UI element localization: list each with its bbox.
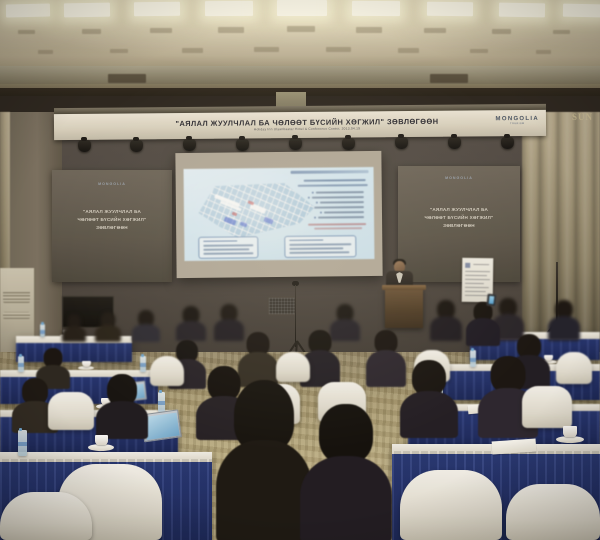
- ceiling-air-return: [430, 74, 468, 83]
- ceiling-vent: [492, 29, 511, 34]
- poster-text-line: [465, 291, 486, 292]
- stage-spotlight: [183, 139, 196, 151]
- ceiling-vent: [82, 29, 101, 34]
- attendee: [96, 374, 148, 436]
- callout-line: [203, 248, 249, 250]
- slide-callout-right: [284, 235, 356, 258]
- slide-bullet: [318, 216, 364, 218]
- coffee-cup: [95, 435, 108, 445]
- banner-logo: MONGOLIA TOURISM: [496, 116, 539, 125]
- attendee-torso: [132, 324, 160, 342]
- attendee-torso: [466, 318, 500, 346]
- poster-text-line: [465, 279, 490, 280]
- ceiling-light-panel: [134, 2, 180, 17]
- ceiling-vent: [110, 49, 128, 53]
- stage-spotlight: [448, 137, 461, 149]
- side-banner-left-line2: ЧӨЛӨӨТ БҮСИЙН ХӨГЖИЛ": [52, 216, 172, 224]
- ceiling-air-return: [108, 74, 146, 83]
- attendee-foreground: [216, 380, 312, 540]
- slide-title-bar: [291, 170, 369, 174]
- site-plan-diagram: [196, 182, 317, 241]
- slide-callout-left: [198, 236, 258, 259]
- stage-spotlight: [289, 138, 302, 150]
- table-skirt: [16, 343, 132, 362]
- side-banner-left: MONGOLIA "АЯЛАЛ ЖУУЛЧЛАЛ БА ЧӨЛӨӨТ БҮСИЙ…: [52, 170, 172, 282]
- poster-text-line: [473, 264, 489, 265]
- poster-text-line: [465, 275, 487, 276]
- side-banner-left-text: "АЯЛАЛ ЖУУЛЧЛАЛ БА ЧӨЛӨӨТ БҮСИЙН ХӨГЖИЛ"…: [52, 208, 172, 232]
- site-plan-grid: [196, 182, 317, 241]
- side-banner-left-line1: "АЯЛАЛ ЖУУЛЧЛАЛ БА: [52, 208, 172, 216]
- stage-spotlight: [342, 138, 355, 150]
- attendee: [548, 300, 580, 340]
- ac-grille: [3, 290, 30, 303]
- chair: [506, 484, 600, 540]
- side-banner-left-logo: MONGOLIA: [52, 182, 172, 186]
- chair: [522, 386, 572, 428]
- saucer: [556, 436, 584, 443]
- ceiling-vent: [536, 50, 551, 54]
- ceiling-vent: [18, 30, 35, 34]
- side-banner-right-line3: ЗӨВЛӨГӨӨН: [398, 222, 520, 230]
- water-bottle: [40, 324, 45, 337]
- attendee-with-phone: [466, 300, 500, 346]
- slide-bullet: [312, 196, 364, 198]
- banner-logo-subtext: TOURISM: [496, 122, 539, 125]
- poster-text-line: [465, 283, 484, 284]
- callout-line: [289, 247, 343, 249]
- side-banner-right-text: "АЯЛАЛ ЖУУЛЧЛАЛ БА ЧӨЛӨӨТ БҮСИЙН ХӨГЖИЛ"…: [398, 206, 520, 230]
- slide-heading-line: [304, 179, 366, 182]
- side-banner-right-logo: MONGOLIA: [398, 176, 520, 180]
- water-bottle: [18, 356, 24, 372]
- chair: [556, 352, 592, 384]
- callout-line: [289, 243, 351, 245]
- chair: [276, 352, 310, 382]
- poster-logo: [465, 263, 470, 268]
- attendee-torso: [548, 316, 580, 341]
- attendee: [132, 310, 160, 340]
- side-banner-left-line3: ЗӨВЛӨГӨӨН: [52, 224, 172, 232]
- attendee: [176, 306, 206, 340]
- conference-photo: SUN "АЯЛАЛ ЖУУЛЧЛАЛ БА ЧӨЛӨӨТ БҮСИЙН ХӨГ…: [0, 0, 600, 540]
- slide-bullet: [324, 211, 364, 213]
- stage-spotlight: [501, 137, 514, 149]
- attendee: [62, 314, 86, 340]
- stage-spotlight: [78, 140, 91, 152]
- right-edge-logo: SUN: [572, 112, 598, 134]
- attendee: [95, 312, 121, 340]
- ceiling-vent: [470, 49, 488, 53]
- poster-text-line: [465, 287, 489, 288]
- slide-heading-line: [298, 184, 368, 187]
- side-banner-right-line1: "АЯЛАЛ ЖУУЛЧЛАЛ БА: [398, 206, 520, 214]
- ceiling-vent: [553, 30, 570, 34]
- coffee-cup: [563, 426, 577, 437]
- side-banner-right-line2: ЧӨЛӨӨТ БҮСИЙН ХӨГЖИЛ": [398, 214, 520, 222]
- attendee-torso: [430, 316, 462, 341]
- ceiling-light-panel: [563, 4, 600, 18]
- attendee-torso: [96, 401, 148, 439]
- stage-spotlight: [130, 140, 143, 152]
- saucer: [88, 444, 114, 451]
- chair: [400, 470, 502, 540]
- slide-bullet: [320, 201, 364, 203]
- attendee-torso: [216, 440, 312, 540]
- water-bottle: [140, 356, 146, 372]
- stage-spotlight: [236, 139, 249, 151]
- microphone-stand-pole: [295, 285, 296, 347]
- ceiling-vent: [424, 28, 446, 33]
- chair: [0, 492, 92, 540]
- water-bottle: [158, 392, 165, 412]
- ceiling-vent: [326, 47, 351, 52]
- callout-heading: [289, 239, 323, 241]
- attendee-torso: [400, 391, 458, 438]
- slide-bullet: [316, 191, 364, 193]
- attendee: [430, 300, 462, 340]
- slide-note-line: [314, 227, 362, 230]
- ceiling-vent: [398, 48, 419, 53]
- mobile-phone: [486, 294, 496, 307]
- callout-line: [203, 244, 253, 246]
- chair: [150, 356, 184, 386]
- podium: [385, 288, 423, 328]
- ceiling-light-panel: [6, 4, 50, 18]
- callout-line: [203, 252, 253, 254]
- pa-speaker: [268, 297, 296, 315]
- ac-grille: [3, 312, 30, 319]
- attendee-torso: [95, 325, 121, 342]
- ceiling: [0, 0, 600, 96]
- ceiling-vent: [356, 27, 382, 33]
- podium-top: [382, 285, 426, 290]
- ceiling-light-panel: [205, 1, 253, 16]
- poster-text-line: [465, 271, 490, 272]
- attendee-torso: [300, 456, 392, 540]
- attendee-torso: [62, 326, 86, 342]
- ceiling-light-panel: [277, 0, 327, 16]
- stage-spotlight: [395, 137, 408, 149]
- attendee-torso: [176, 321, 206, 341]
- ceiling-vent: [182, 48, 203, 53]
- attendee-head: [319, 404, 373, 464]
- callout-line: [289, 251, 349, 253]
- ceiling-light-panel: [352, 1, 400, 16]
- ceiling-vent: [150, 28, 172, 33]
- attendee-foreground: [300, 404, 392, 540]
- water-bottle: [18, 430, 27, 456]
- water-bottle: [470, 350, 476, 367]
- ceiling-vent: [254, 47, 279, 52]
- ceiling-vent: [287, 26, 315, 32]
- ceiling-vent: [38, 50, 53, 54]
- callout-heading: [203, 240, 237, 242]
- projection-screen-frame: [175, 151, 382, 278]
- ceiling-light-panel: [499, 3, 545, 18]
- ceiling-vent: [218, 27, 244, 33]
- ceiling-light-panel: [427, 2, 473, 17]
- chair: [48, 392, 94, 430]
- slide-note-line: [308, 223, 366, 226]
- poster-text-line: [465, 295, 490, 296]
- ceiling-beam: [0, 66, 600, 84]
- side-banner-right: MONGOLIA "АЯЛАЛ ЖУУЛЧЛАЛ БА ЧӨЛӨӨТ БҮСИЙ…: [398, 166, 520, 282]
- projection-screen: [184, 167, 375, 261]
- slide-bullet: [314, 206, 364, 208]
- ceiling-light-panel: [64, 3, 110, 18]
- main-banner: "АЯЛАЛ ЖУУЛЧЛАЛ БА ЧӨЛӨӨТ БҮСИЙН ХӨГЖИЛ"…: [54, 110, 546, 140]
- attendee: [400, 360, 458, 436]
